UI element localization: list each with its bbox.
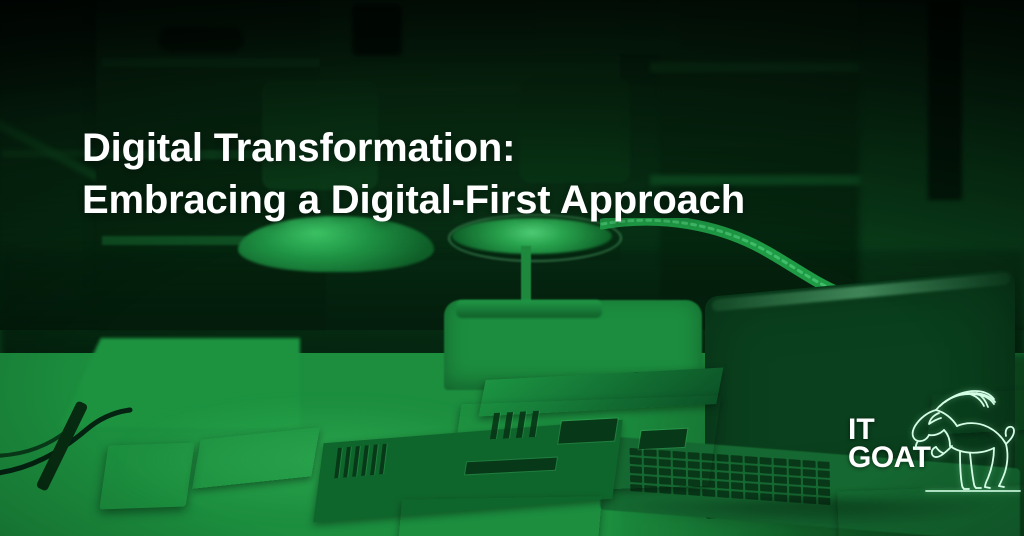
expansion-slots [334,444,387,479]
shelf-object-center [352,4,402,56]
soldering-station-base [99,443,195,510]
chip-heatsink [558,418,617,443]
shelf-object-right [536,0,680,54]
page-title: Digital Transformation: Embracing a Digi… [82,122,942,226]
ram-slots [490,411,539,440]
desk-lamp-base [456,300,602,318]
circuit-board-front [398,496,602,536]
desk-lamp-stem [521,246,531,308]
hero-banner: Digital Transformation: Embracing a Digi… [0,0,1024,536]
shelf-board-right-upper [650,62,870,72]
goat-outline-icon [882,386,1024,498]
logo[interactable]: IT GOAT [848,386,1024,504]
title-line-2: Embracing a Digital-First Approach [82,174,942,226]
chip-socket [639,429,688,450]
shelf-object-left [158,26,244,52]
title-line-1: Digital Transformation: [82,122,942,174]
